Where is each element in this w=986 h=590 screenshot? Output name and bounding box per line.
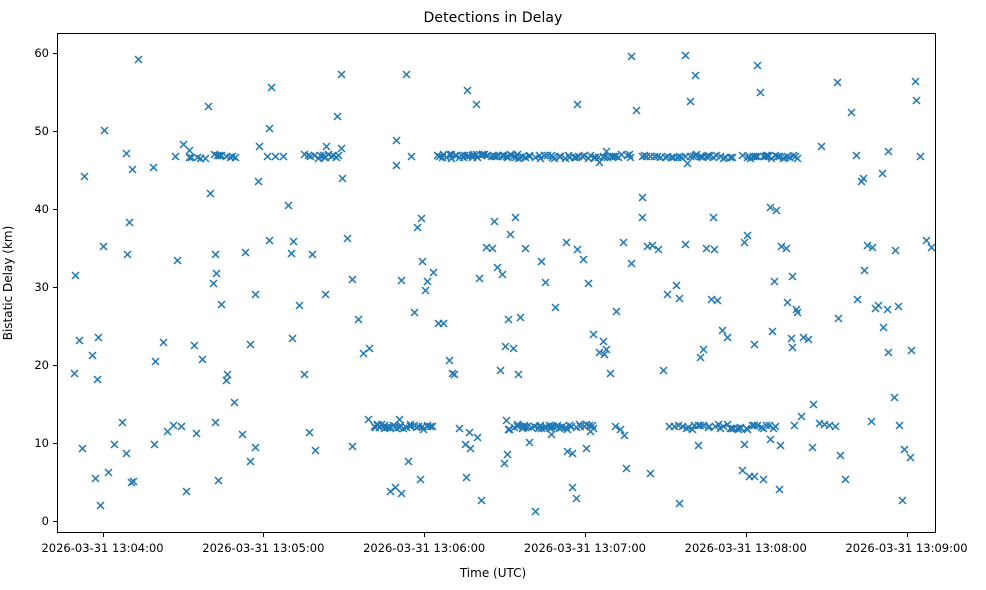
scatter-marker-x-icon — [713, 296, 722, 305]
scatter-marker-x-icon — [445, 356, 454, 365]
scatter-marker-x-icon — [177, 422, 186, 431]
scatter-marker-x-icon — [514, 370, 523, 379]
scatter-marker-x-icon — [150, 440, 159, 449]
scatter-marker-x-icon — [417, 214, 426, 223]
scatter-marker-x-icon — [602, 147, 611, 156]
scatter-marker-x-icon — [772, 206, 781, 215]
scatter-marker-x-icon — [499, 151, 508, 160]
scatter-marker-x-icon — [531, 507, 540, 516]
y-tick-mark — [53, 521, 57, 522]
scatter-marker-x-icon — [541, 278, 550, 287]
scatter-marker-x-icon — [672, 281, 681, 290]
scatter-marker-x-icon — [501, 342, 510, 351]
scatter-marker-x-icon — [710, 245, 719, 254]
scatter-marker-x-icon — [790, 421, 799, 430]
scatter-marker-x-icon — [348, 442, 357, 451]
scatter-marker-x-icon — [895, 421, 904, 430]
scatter-marker-x-icon — [890, 393, 899, 402]
scatter-marker-x-icon — [694, 441, 703, 450]
x-tick-label: 2026-03-31 13:07:00 — [524, 541, 646, 555]
scatter-marker-x-icon — [792, 305, 801, 314]
scatter-marker-x-icon — [868, 243, 877, 252]
scatter-marker-x-icon — [308, 250, 317, 259]
scatter-marker-x-icon — [267, 83, 276, 92]
scatter-marker-x-icon — [246, 457, 255, 466]
scatter-marker-x-icon — [88, 351, 97, 360]
scatter-marker-x-icon — [230, 398, 239, 407]
scatter-marker-x-icon — [70, 369, 79, 378]
scatter-marker-x-icon — [475, 274, 484, 283]
scatter-marker-x-icon — [338, 174, 347, 183]
scatter-marker-x-icon — [681, 240, 690, 249]
scatter-marker-x-icon — [251, 443, 260, 452]
scatter-marker-x-icon — [511, 213, 520, 222]
scatter-marker-x-icon — [241, 248, 250, 257]
scatter-marker-x-icon — [750, 340, 759, 349]
scatter-marker-x-icon — [288, 334, 297, 343]
x-tick-label: 2026-03-31 13:08:00 — [685, 541, 807, 555]
scatter-marker-x-icon — [675, 499, 684, 508]
y-tick-mark — [53, 287, 57, 288]
scatter-marker-x-icon — [423, 277, 432, 286]
scatter-marker-x-icon — [759, 475, 768, 484]
scatter-marker-x-icon — [898, 496, 907, 505]
scatter-marker-x-icon — [410, 308, 419, 317]
scatter-marker-x-icon — [211, 418, 220, 427]
scatter-marker-x-icon — [284, 201, 293, 210]
scatter-marker-x-icon — [223, 370, 232, 379]
scatter-marker-x-icon — [462, 473, 471, 482]
scatter-marker-x-icon — [756, 88, 765, 97]
scatter-marker-x-icon — [683, 159, 692, 168]
scatter-marker-x-icon — [128, 165, 137, 174]
scatter-marker-x-icon — [632, 106, 641, 115]
scatter-marker-x-icon — [883, 305, 892, 314]
scatter-marker-x-icon — [572, 494, 581, 503]
scatter-marker-x-icon — [198, 355, 207, 364]
scatter-marker-x-icon — [879, 323, 888, 332]
scatter-marker-x-icon — [753, 61, 762, 70]
scatter-marker-x-icon — [295, 301, 304, 310]
scatter-marker-x-icon — [91, 474, 100, 483]
scatter-marker-x-icon — [788, 343, 797, 352]
y-tick-label: 50 — [5, 124, 49, 138]
scatter-marker-x-icon — [808, 443, 817, 452]
scatter-marker-x-icon — [912, 96, 921, 105]
scatter-marker-x-icon — [185, 146, 194, 155]
scatter-marker-x-icon — [859, 174, 868, 183]
x-tick-mark — [746, 533, 747, 537]
scatter-marker-x-icon — [465, 428, 474, 437]
scatter-marker-x-icon — [638, 193, 647, 202]
scatter-marker-x-icon — [551, 303, 560, 312]
scatter-marker-x-icon — [75, 336, 84, 345]
scatter-marker-x-icon — [582, 444, 591, 453]
scatter-marker-x-icon — [502, 416, 511, 425]
scatter-marker-x-icon — [568, 449, 577, 458]
x-tick-mark — [907, 533, 908, 537]
scatter-marker-x-icon — [847, 108, 856, 117]
scatter-marker-x-icon — [122, 149, 131, 158]
scatter-marker-x-icon — [428, 422, 437, 431]
scatter-marker-x-icon — [568, 483, 577, 492]
scatter-marker-x-icon — [884, 348, 893, 357]
x-tick-mark — [585, 533, 586, 537]
scatter-marker-x-icon — [891, 246, 900, 255]
scatter-marker-x-icon — [402, 70, 411, 79]
scatter-marker-x-icon — [209, 279, 218, 288]
scatter-marker-x-icon — [490, 217, 499, 226]
scatter-marker-x-icon — [348, 275, 357, 284]
scatter-marker-x-icon — [251, 290, 260, 299]
scatter-marker-x-icon — [740, 440, 749, 449]
scatter-marker-x-icon — [586, 427, 595, 436]
y-tick-mark — [53, 365, 57, 366]
scatter-marker-x-icon — [696, 353, 705, 362]
scatter-marker-x-icon — [289, 237, 298, 246]
x-tick-mark — [103, 533, 104, 537]
scatter-marker-x-icon — [99, 242, 108, 251]
scatter-marker-x-icon — [407, 152, 416, 161]
scatter-marker-x-icon — [421, 286, 430, 295]
scatter-marker-x-icon — [804, 335, 813, 344]
scatter-marker-x-icon — [504, 315, 513, 324]
scatter-marker-x-icon — [834, 314, 843, 323]
scatter-marker-x-icon — [238, 430, 247, 439]
scatter-marker-x-icon — [620, 431, 629, 440]
scatter-marker-x-icon — [134, 55, 143, 64]
scatter-marker-x-icon — [305, 428, 314, 437]
scatter-marker-x-icon — [599, 337, 608, 346]
scatter-marker-x-icon — [646, 469, 655, 478]
scatter-marker-x-icon — [472, 100, 481, 109]
y-tick-mark — [53, 53, 57, 54]
scatter-marker-x-icon — [750, 472, 759, 481]
scatter-marker-x-icon — [343, 234, 352, 243]
scatter-marker-x-icon — [104, 468, 113, 477]
x-tick-mark — [424, 533, 425, 537]
x-tick-label: 2026-03-31 13:05:00 — [202, 541, 324, 555]
scatter-marker-x-icon — [214, 476, 223, 485]
y-tick-label: 20 — [5, 358, 49, 372]
scatter-marker-x-icon — [506, 230, 515, 239]
scatter-marker-x-icon — [503, 450, 512, 459]
scatter-marker-x-icon — [71, 271, 80, 280]
scatter-marker-x-icon — [612, 307, 621, 316]
scatter-marker-x-icon — [927, 243, 936, 252]
x-tick-label: 2026-03-31 13:09:00 — [845, 541, 967, 555]
scatter-marker-x-icon — [190, 341, 199, 350]
scatter-marker-x-icon — [867, 417, 876, 426]
scatter-marker-x-icon — [788, 272, 797, 281]
scatter-marker-x-icon — [509, 344, 518, 353]
scatter-marker-x-icon — [246, 340, 255, 349]
scatter-marker-x-icon — [173, 256, 182, 265]
scatter-marker-x-icon — [852, 151, 861, 160]
scatter-marker-x-icon — [589, 330, 598, 339]
scatter-marker-x-icon — [322, 142, 331, 151]
scatter-marker-x-icon — [365, 344, 374, 353]
matplotlib-figure: Detections in Delay 0102030405060 2026-0… — [0, 0, 986, 590]
scatter-marker-x-icon — [127, 478, 136, 487]
scatter-marker-x-icon — [212, 269, 221, 278]
scatter-marker-x-icon — [659, 366, 668, 375]
scatter-marker-x-icon — [337, 144, 346, 153]
y-axis-label-wrap: Bistatic Delay (km) — [18, 0, 19, 590]
scatter-marker-x-icon — [853, 295, 862, 304]
scatter-marker-x-icon — [182, 487, 191, 496]
x-axis-label: Time (UTC) — [0, 566, 986, 580]
scatter-marker-x-icon — [311, 446, 320, 455]
scatter-marker-x-icon — [404, 457, 413, 466]
scatter-marker-x-icon — [884, 147, 893, 156]
scatter-marker-x-icon — [675, 294, 684, 303]
scatter-marker-x-icon — [265, 124, 274, 133]
scatter-marker-x-icon — [906, 453, 915, 462]
scatter-marker-x-icon — [96, 501, 105, 510]
scatter-marker-x-icon — [463, 86, 472, 95]
scatter-marker-x-icon — [627, 52, 636, 61]
scatter-marker-x-icon — [416, 475, 425, 484]
scatter-marker-x-icon — [118, 418, 127, 427]
scatter-marker-x-icon — [125, 218, 134, 227]
scatter-marker-x-icon — [413, 223, 422, 232]
y-tick-mark — [53, 131, 57, 132]
scatter-marker-x-icon — [279, 152, 288, 161]
y-tick-label: 10 — [5, 436, 49, 450]
scatter-marker-x-icon — [204, 102, 213, 111]
scatter-marker-x-icon — [681, 51, 690, 60]
scatter-marker-x-icon — [171, 152, 180, 161]
scatter-marker-x-icon — [100, 126, 109, 135]
scatter-marker-x-icon — [231, 153, 240, 162]
scatter-marker-x-icon — [392, 161, 401, 170]
scatter-marker-x-icon — [728, 153, 737, 162]
scatter-marker-x-icon — [686, 97, 695, 106]
scatter-marker-x-icon — [766, 435, 775, 444]
scatter-marker-x-icon — [709, 213, 718, 222]
scatter-marker-x-icon — [911, 77, 920, 86]
scatter-marker-x-icon — [723, 333, 732, 342]
scatter-marker-x-icon — [776, 441, 785, 450]
scatter-marker-x-icon — [525, 438, 534, 447]
y-tick-mark — [53, 443, 57, 444]
scatter-marker-x-icon — [547, 430, 556, 439]
scatter-marker-x-icon — [619, 238, 628, 247]
scatter-marker-x-icon — [626, 153, 635, 162]
scatter-marker-x-icon — [836, 451, 845, 460]
scatter-marker-x-icon — [392, 136, 401, 145]
y-tick-mark — [53, 209, 57, 210]
scatter-marker-x-icon — [333, 112, 342, 121]
scatter-marker-x-icon — [797, 412, 806, 421]
scatter-marker-x-icon — [439, 319, 448, 328]
scatter-marker-x-icon — [211, 250, 220, 259]
scatter-marker-x-icon — [738, 466, 747, 475]
scatter-marker-x-icon — [663, 290, 672, 299]
scatter-marker-x-icon — [337, 70, 346, 79]
scatter-marker-x-icon — [287, 249, 296, 258]
scatter-marker-x-icon — [771, 422, 780, 431]
y-tick-label: 40 — [5, 202, 49, 216]
scatter-marker-x-icon — [498, 270, 507, 279]
page-title: Detections in Delay — [0, 10, 986, 26]
scatter-marker-x-icon — [516, 313, 525, 322]
scatter-marker-x-icon — [775, 485, 784, 494]
scatter-marker-x-icon — [149, 163, 158, 172]
scatter-marker-x-icon — [841, 475, 850, 484]
scatter-marker-x-icon — [782, 244, 791, 253]
scatter-marker-x-icon — [638, 213, 647, 222]
scatter-marker-x-icon — [496, 366, 505, 375]
scatter-marker-x-icon — [606, 369, 615, 378]
scatter-marker-x-icon — [584, 279, 593, 288]
scatter-marker-x-icon — [418, 257, 427, 266]
scatter-marker-x-icon — [354, 315, 363, 324]
scatter-marker-x-icon — [94, 333, 103, 342]
scatter-marker-x-icon — [831, 422, 840, 431]
scatter-points-layer — [58, 34, 935, 532]
y-axis-label: Bistatic Delay (km) — [1, 226, 15, 341]
scatter-marker-x-icon — [122, 449, 131, 458]
scatter-marker-x-icon — [860, 266, 869, 275]
scatter-marker-x-icon — [521, 244, 530, 253]
scatter-marker-x-icon — [455, 424, 464, 433]
scatter-marker-x-icon — [110, 440, 119, 449]
scatter-marker-x-icon — [123, 250, 132, 259]
scatter-marker-x-icon — [622, 464, 631, 473]
scatter-marker-x-icon — [783, 298, 792, 307]
scatter-marker-x-icon — [159, 338, 168, 347]
plot-axes-area — [57, 33, 936, 533]
scatter-marker-x-icon — [473, 433, 482, 442]
scatter-marker-x-icon — [573, 245, 582, 254]
scatter-marker-x-icon — [627, 259, 636, 268]
scatter-marker-x-icon — [217, 300, 226, 309]
scatter-marker-x-icon — [300, 370, 309, 379]
scatter-marker-x-icon — [321, 290, 330, 299]
scatter-marker-x-icon — [579, 255, 588, 264]
scatter-marker-x-icon — [916, 152, 925, 161]
scatter-marker-x-icon — [500, 459, 509, 468]
scatter-marker-x-icon — [691, 71, 700, 80]
scatter-marker-x-icon — [562, 238, 571, 247]
y-tick-label: 0 — [5, 514, 49, 528]
scatter-marker-x-icon — [477, 496, 486, 505]
scatter-marker-x-icon — [265, 236, 274, 245]
scatter-marker-x-icon — [254, 177, 263, 186]
scatter-marker-x-icon — [878, 169, 887, 178]
scatter-marker-x-icon — [833, 78, 842, 87]
x-tick-label: 2026-03-31 13:06:00 — [363, 541, 485, 555]
scatter-marker-x-icon — [595, 158, 604, 167]
scatter-marker-x-icon — [466, 444, 475, 453]
scatter-marker-x-icon — [743, 231, 752, 240]
scatter-marker-x-icon — [397, 276, 406, 285]
scatter-marker-x-icon — [537, 257, 546, 266]
x-tick-mark — [263, 533, 264, 537]
scatter-marker-x-icon — [206, 189, 215, 198]
scatter-marker-x-icon — [907, 346, 916, 355]
scatter-marker-x-icon — [395, 415, 404, 424]
scatter-marker-x-icon — [192, 429, 201, 438]
scatter-marker-x-icon — [448, 369, 457, 378]
x-tick-label: 2026-03-31 13:04:00 — [41, 541, 163, 555]
scatter-marker-x-icon — [201, 154, 210, 163]
scatter-marker-x-icon — [894, 302, 903, 311]
scatter-marker-x-icon — [871, 304, 880, 313]
scatter-marker-x-icon — [429, 268, 438, 277]
scatter-marker-x-icon — [488, 244, 497, 253]
scatter-marker-x-icon — [770, 277, 779, 286]
scatter-marker-x-icon — [80, 172, 89, 181]
scatter-marker-x-icon — [397, 489, 406, 498]
scatter-marker-x-icon — [151, 357, 160, 366]
scatter-marker-x-icon — [768, 327, 777, 336]
scatter-marker-x-icon — [817, 142, 826, 151]
scatter-marker-x-icon — [93, 375, 102, 384]
scatter-marker-x-icon — [78, 444, 87, 453]
scatter-marker-x-icon — [255, 142, 264, 151]
scatter-marker-x-icon — [793, 154, 802, 163]
scatter-marker-x-icon — [809, 400, 818, 409]
y-tick-label: 60 — [5, 46, 49, 60]
scatter-marker-x-icon — [573, 100, 582, 109]
scatter-marker-x-icon — [654, 245, 663, 254]
